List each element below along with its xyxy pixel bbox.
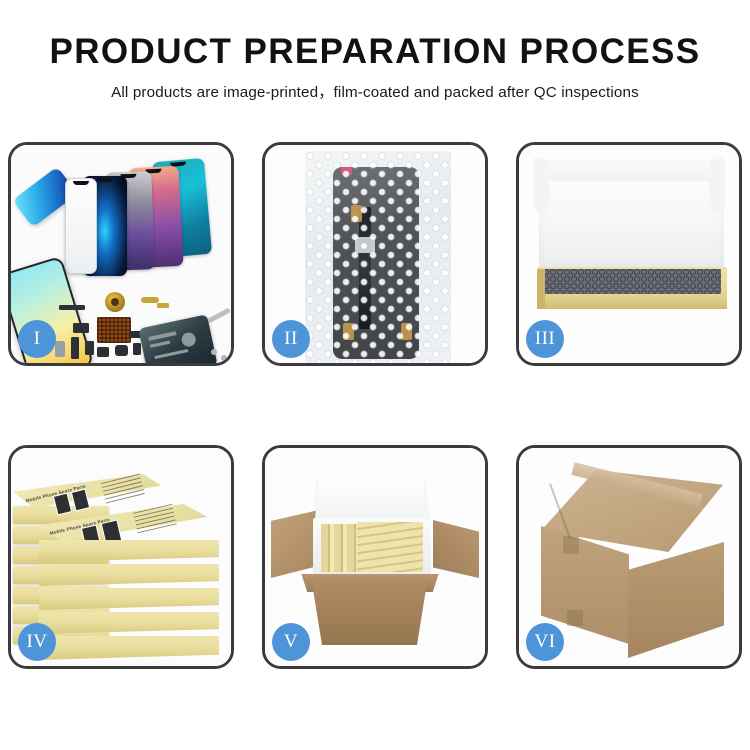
step-badge-6: VI (526, 623, 564, 661)
box-print-spec-lines (101, 473, 145, 504)
camera-part-icon (85, 341, 94, 355)
carton-body-icon (307, 583, 432, 645)
white-foam-lid-icon (539, 155, 724, 273)
phone-notch-icon (97, 178, 113, 182)
process-step-panel-1[interactable]: I (8, 142, 234, 366)
step-badge-2: II (272, 320, 310, 358)
yellow-box-left-edge-icon (537, 269, 545, 309)
bubble-wrap-bag-icon (305, 151, 451, 363)
speaker-part-icon (115, 345, 128, 356)
box-print-spec-lines (133, 504, 177, 534)
phone-glass-panel-icon (65, 178, 97, 274)
foam-lid-open-icon (314, 474, 427, 525)
gold-connector-part-icon (157, 303, 169, 308)
process-step-panel-3[interactable]: III (516, 142, 742, 366)
foam-flap-right-icon (709, 158, 725, 213)
step-badge-3: III (526, 320, 564, 358)
stacked-box (39, 612, 219, 634)
stacked-box (39, 636, 219, 660)
screw-part-icon (221, 355, 227, 361)
yellow-boxes-row-icon (357, 522, 423, 572)
page-header: PRODUCT PREPARATION PROCESS All products… (0, 0, 750, 102)
process-step-panel-2[interactable]: II (262, 142, 488, 366)
foam-flap-left-icon (533, 158, 549, 213)
button-part-icon (133, 343, 141, 355)
step-badge-4: IV (18, 623, 56, 661)
sim-tray-part-icon (55, 341, 65, 357)
phone-notch-icon (73, 181, 89, 185)
ic-chip-array-icon (97, 317, 131, 343)
bubble-wrapped-content-icon (543, 269, 721, 294)
flex-cable-part-icon (71, 337, 79, 359)
bubble-texture-overlay (305, 151, 451, 363)
page-title: PRODUCT PREPARATION PROCESS (0, 34, 750, 71)
earpiece-part-icon (59, 305, 85, 310)
process-step-panel-4[interactable]: Mobile Phone Spare Parts Mobile Phone Sp… (8, 445, 234, 669)
speaker-coil-part-icon (105, 292, 125, 312)
process-step-panel-6[interactable]: VI (516, 445, 742, 669)
step-badge-1: I (18, 320, 56, 358)
screw-part-icon (211, 349, 217, 355)
vibrator-part-icon (97, 347, 109, 357)
small-module-part-icon (73, 323, 89, 333)
page-subtitle: All products are image-printed，film-coat… (0, 80, 750, 102)
process-step-grid: I II (8, 142, 742, 669)
step-badge-5: V (272, 623, 310, 661)
stacked-box (39, 540, 219, 562)
yellow-box-front-lip-icon (537, 295, 727, 309)
gold-flex-part-icon (141, 297, 159, 303)
stacked-box (39, 588, 219, 610)
stacked-box (39, 564, 219, 586)
carton-tab-icon (567, 610, 583, 626)
carton-tab-icon (563, 536, 579, 554)
process-step-panel-5[interactable]: V (262, 445, 488, 669)
